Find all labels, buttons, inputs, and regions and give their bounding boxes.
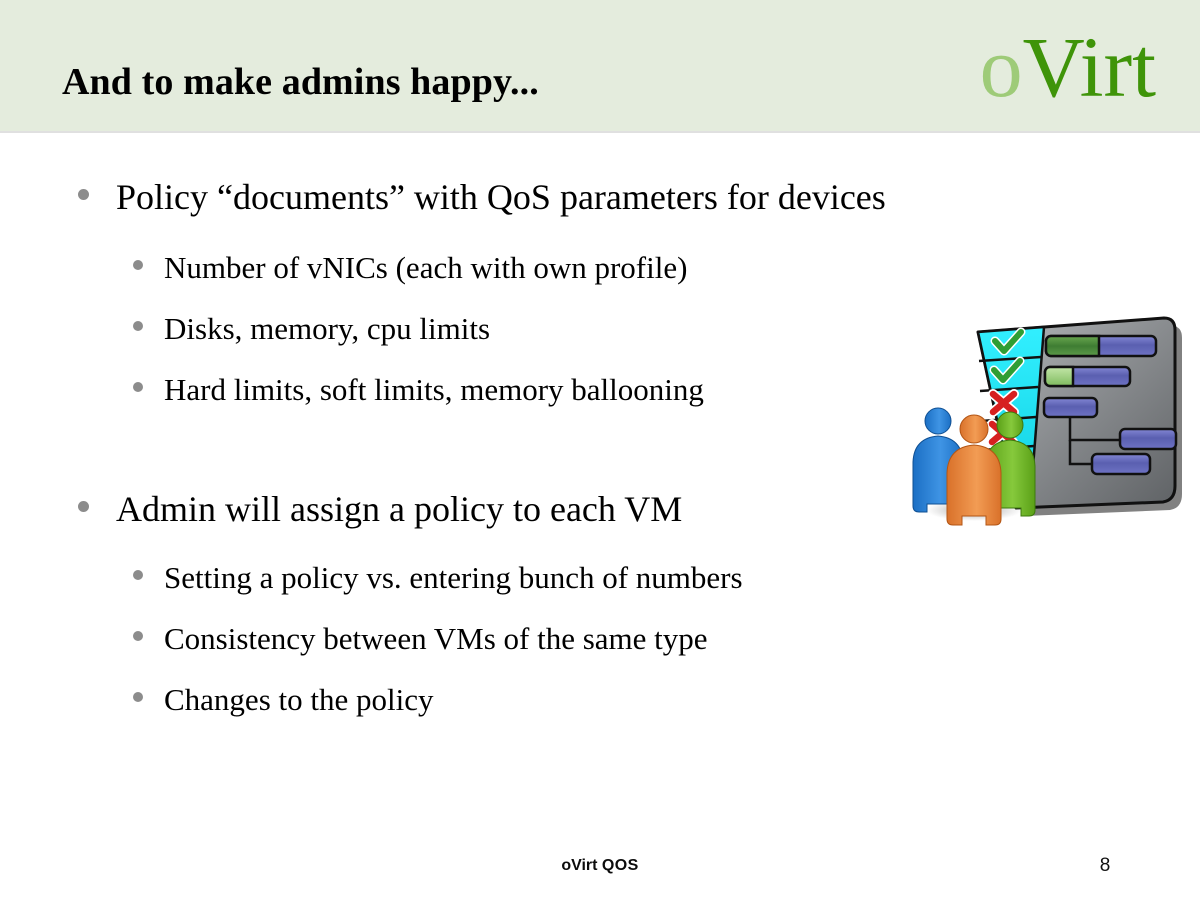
bullet-text: Number of vNICs (each with own profile) [164,251,687,285]
gantt-bar [1045,367,1130,386]
bullet-marker-icon [78,189,89,200]
bullet-item-4: Hard limits, soft limits, memory balloon… [133,373,704,407]
gantt-bar [1092,454,1150,474]
logo-letter-o: o [980,19,1023,115]
bullet-text: Hard limits, soft limits, memory balloon… [164,373,704,407]
gantt-bar [1120,429,1176,449]
gantt-bar [1046,336,1156,356]
bullet-text: Disks, memory, cpu limits [164,312,490,346]
logo-letters-virt: Virt [1023,19,1156,115]
footer-brand: oVirt QOS [0,856,1200,876]
bullet-item-7: Consistency between VMs of the same type [133,622,708,656]
bullet-marker-icon [133,260,143,270]
cross-icon [993,394,1014,412]
bullet-text: Changes to the policy [164,683,433,717]
bullet-text: Admin will assign a policy to each VM [116,489,682,529]
page-number: 8 [1085,855,1125,877]
bullet-marker-icon [133,692,143,702]
bullet-text: Setting a policy vs. entering bunch of n… [164,561,743,595]
bullet-marker-icon [133,631,143,641]
bullet-text: Consistency between VMs of the same type [164,622,708,656]
footer-brand-suffix: QOS [602,857,639,874]
bullet-marker-icon [133,382,143,392]
bullet-item-2: Number of vNICs (each with own profile) [133,251,687,285]
bullet-item-1: Policy “documents” with QoS parameters f… [78,177,886,217]
bullet-item-6: Setting a policy vs. entering bunch of n… [133,561,743,595]
bullet-item-8: Changes to the policy [133,683,433,717]
bullet-marker-icon [133,570,143,580]
bullet-marker-icon [78,501,89,512]
bullet-marker-icon [133,321,143,331]
bullet-item-5: Admin will assign a policy to each VM [78,489,682,529]
ovirt-logo: oVirt [980,24,1156,110]
bullet-text: Policy “documents” with QoS parameters f… [116,177,886,217]
footer-brand-prefix: oVirt [561,857,597,874]
gantt-bar [1044,398,1097,417]
page-title: And to make admins happy... [62,60,539,104]
person-orange [947,415,1001,525]
bullet-item-3: Disks, memory, cpu limits [133,312,490,346]
policy-board-illustration [900,312,1190,538]
